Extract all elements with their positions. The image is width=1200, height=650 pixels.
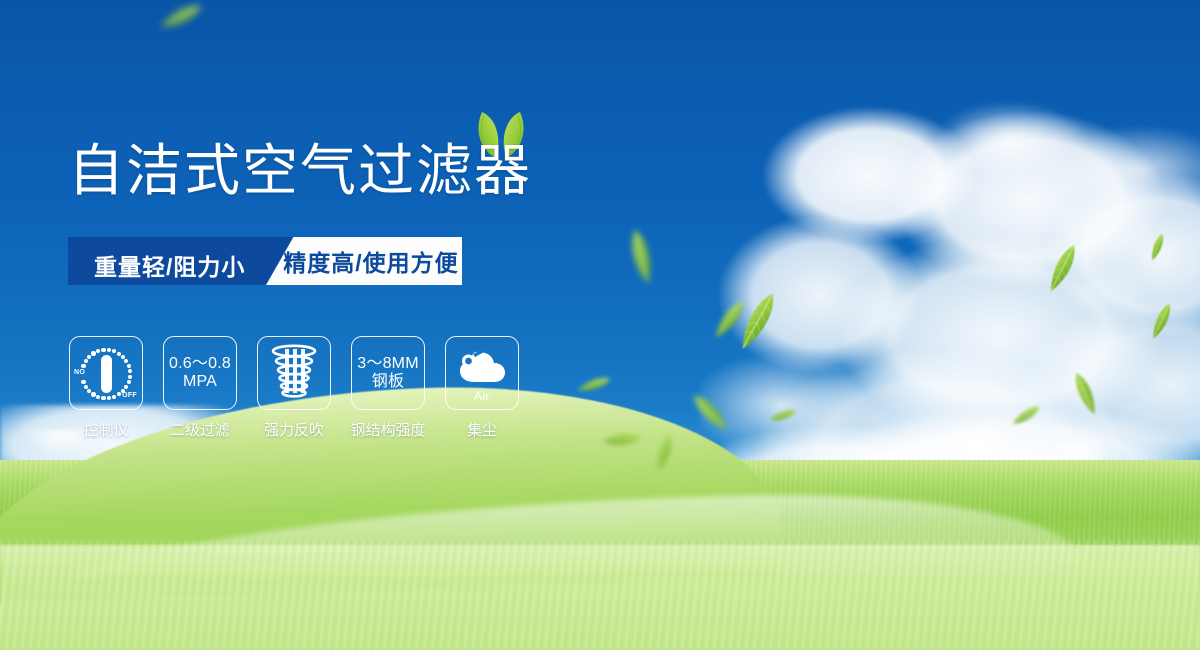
filter-cartridge-icon <box>268 343 320 404</box>
steel-plate-value-icon: 3～8MM 钢板 <box>357 355 418 391</box>
dial-tick <box>101 348 105 352</box>
steel-line-1: 3～8MM <box>357 355 418 373</box>
feature-icon-box <box>257 336 331 410</box>
banner-title: 自洁式空气过滤器 <box>68 143 532 199</box>
dial-tick <box>124 385 128 389</box>
dial-max-label: OFF <box>122 392 137 399</box>
air-caption: Air <box>446 389 518 403</box>
pressure-value-icon: 0.6～0.8 MPA <box>169 355 231 391</box>
feature-list: NO OFF 控制仪 0.6～0.8 MPA 二级过滤 <box>68 336 520 440</box>
dial-tick <box>128 375 132 379</box>
feature-label: 钢结构强度 <box>350 419 425 440</box>
dial-tick <box>81 364 85 368</box>
air-cloud-icon <box>454 346 510 391</box>
dial-tick <box>127 364 131 368</box>
dial-tick <box>84 359 88 363</box>
feature-item-two-stage-filter[interactable]: 0.6～0.8 MPA 二级过滤 <box>162 336 238 440</box>
feature-item-blowback[interactable]: 强力反吹 <box>256 336 332 440</box>
subtitle-left-text: 重量轻/阻力小 <box>94 248 245 282</box>
dial-tick <box>96 349 100 353</box>
dial-tick <box>128 369 132 373</box>
pressure-line-2: MPA <box>169 373 231 391</box>
dial-tick <box>124 359 128 363</box>
dial-tick <box>81 380 85 384</box>
dial-needle <box>101 355 112 393</box>
feature-icon-box: NO OFF <box>69 336 143 410</box>
control-dial-icon: NO OFF <box>76 344 136 402</box>
dial-tick <box>96 395 100 399</box>
feature-label: 控制仪 <box>83 419 128 440</box>
dial-tick <box>112 395 116 399</box>
dial-tick <box>107 348 111 352</box>
dial-tick <box>127 380 131 384</box>
subtitle-right-text: 精度高/使用方便 <box>283 244 458 278</box>
feature-label: 强力反吹 <box>264 419 324 440</box>
feature-item-steel-strength[interactable]: 3～8MM 钢板 钢结构强度 <box>350 336 426 440</box>
feature-item-controller[interactable]: NO OFF 控制仪 <box>68 336 144 440</box>
dial-tick <box>107 396 111 400</box>
dial-tick <box>91 392 95 396</box>
dial-min-label: NO <box>74 369 85 376</box>
feature-icon-box: 3～8MM 钢板 <box>351 336 425 410</box>
dial-tick <box>121 389 125 393</box>
pressure-line-1: 0.6～0.8 <box>169 355 231 373</box>
feature-label: 二级过滤 <box>170 419 230 440</box>
feature-item-dust-collection[interactable]: Air 集尘 <box>444 336 520 440</box>
subtitle-bar: 精度高/使用方便 重量轻/阻力小 <box>68 237 462 285</box>
feature-label: 集尘 <box>467 419 497 440</box>
steel-line-2: 钢板 <box>357 373 418 391</box>
product-banner: 自洁式空气过滤器 精度高/使用方便 重量轻/阻力小 NO OFF <box>0 0 1200 650</box>
subtitle-right-panel: 精度高/使用方便 <box>266 237 462 285</box>
dial-tick <box>84 385 88 389</box>
feature-icon-box: 0.6～0.8 MPA <box>163 336 237 410</box>
dial-tick <box>112 349 116 353</box>
dial-tick <box>101 396 105 400</box>
dial-tick <box>91 351 95 355</box>
feature-icon-box: Air <box>445 336 519 410</box>
dial-tick <box>117 392 121 396</box>
banner-content: 自洁式空气过滤器 精度高/使用方便 重量轻/阻力小 NO OFF <box>0 0 1200 650</box>
